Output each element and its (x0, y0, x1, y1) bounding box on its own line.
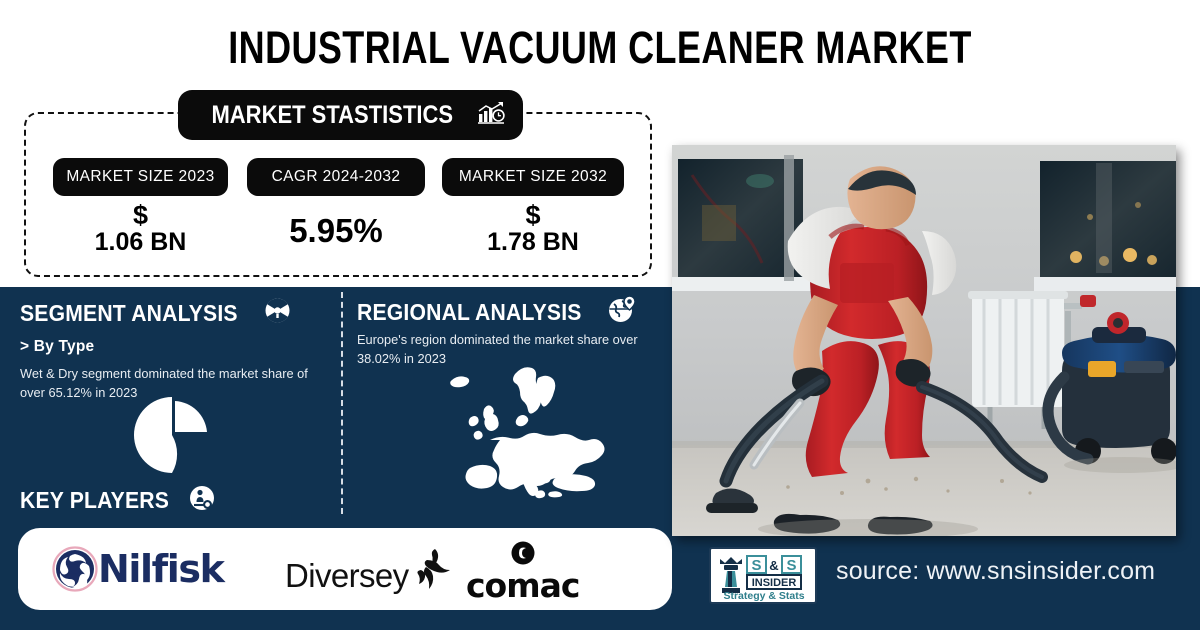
regional-analysis-heading: REGIONAL ANALYSIS (357, 296, 637, 328)
sns-s2: S (786, 557, 796, 574)
logo-diversey: Diversey (285, 546, 451, 606)
segment-analysis-heading-label: SEGMENT ANALYSIS (20, 300, 238, 327)
stat-market-size-2032: MARKET SIZE 2032 $ 1.78 BN (442, 158, 624, 255)
sns-s1: S (751, 557, 761, 574)
pie-segment-icon (264, 297, 291, 329)
market-statistics-heading: MARKET STASTISTICS (178, 90, 523, 140)
europe-map (446, 360, 616, 505)
stat-number: 1.78 BN (442, 230, 624, 255)
stat-number: 1.06 BN (53, 230, 228, 255)
segment-pie-chart (133, 396, 211, 474)
person-key-icon (189, 485, 215, 516)
logo-nilfisk: Nilfisk (52, 546, 224, 592)
diversey-bird-icon (405, 546, 451, 592)
sns-insider-word: INSIDER (752, 577, 797, 589)
sns-amp: & (769, 558, 778, 573)
segment-subheading: > By Type (20, 338, 94, 356)
comac-mark-icon (506, 540, 540, 566)
sns-insider-logo: S & S INSIDER Strategy & Stats (709, 547, 817, 604)
stat-value: $ 1.78 BN (442, 202, 624, 255)
infographic-page: INDUSTRIAL VACUUM CLEANER MARKET MARKET … (0, 0, 1200, 630)
logo-comac: comac (466, 540, 579, 605)
section-divider (341, 292, 343, 514)
page-title: INDUSTRIAL VACUUM CLEANER MARKET (120, 22, 1080, 74)
stat-number: 5.95% (247, 202, 425, 247)
stat-label: CAGR 2024-2032 (247, 158, 425, 196)
logo-diversey-label: Diversey (285, 557, 409, 595)
stat-value: 5.95% (247, 202, 425, 247)
regional-analysis-heading-label: REGIONAL ANALYSIS (357, 299, 582, 326)
nilfisk-swirl-icon (52, 546, 98, 592)
stat-cagr: CAGR 2024-2032 5.95% (247, 158, 425, 247)
segment-analysis-heading: SEGMENT ANALYSIS (20, 297, 291, 329)
currency-symbol: $ (53, 202, 228, 229)
market-statistics-heading-label: MARKET STASTISTICS (211, 101, 453, 130)
chart-growth-clock-icon (476, 102, 506, 128)
globe-pin-icon (608, 296, 637, 328)
sns-tagline: Strategy & Stats (723, 590, 804, 601)
source-label: source: www.snsinsider.com (836, 557, 1155, 586)
key-players-heading-label: KEY PLAYERS (20, 487, 169, 514)
key-players-heading: KEY PLAYERS (20, 485, 215, 516)
logo-nilfisk-label: Nilfisk (98, 547, 224, 591)
logo-comac-label: comac (466, 566, 579, 605)
stat-label: MARKET SIZE 2032 (442, 158, 624, 196)
currency-symbol: $ (442, 202, 624, 229)
stat-value: $ 1.06 BN (53, 202, 228, 255)
stat-label: MARKET SIZE 2023 (53, 158, 228, 196)
hero-photo (672, 145, 1176, 536)
stat-market-size-2023: MARKET SIZE 2023 $ 1.06 BN (53, 158, 228, 255)
